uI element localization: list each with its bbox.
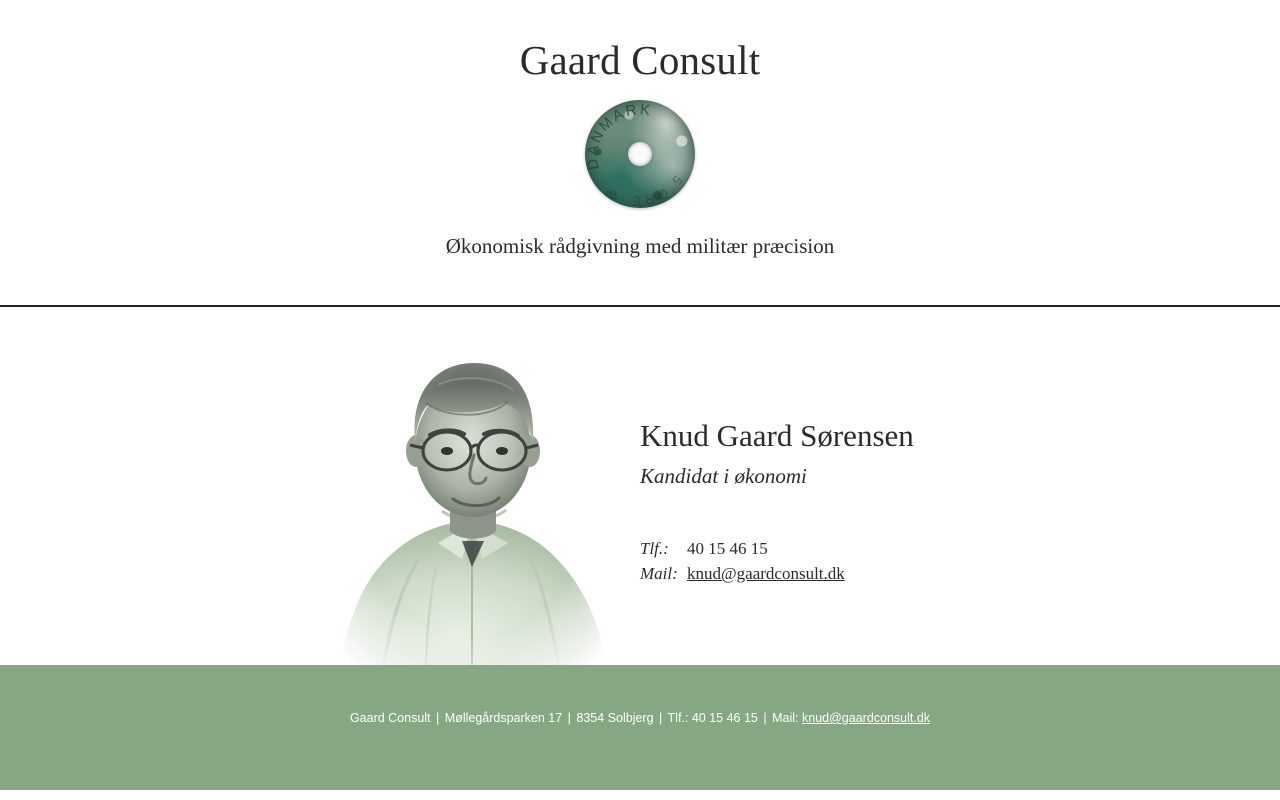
danish-coin-icon: DANMARK 5 ØRE	[585, 100, 695, 208]
footer-street: Møllegårdsparken 17	[445, 711, 562, 725]
page-root: Gaard Consult DANMARK 5 ØRE	[0, 0, 1280, 800]
footer-mail-label: Mail:	[772, 711, 798, 725]
footer-company: Gaard Consult	[350, 711, 431, 725]
person-name: Knud Gaard Sørensen	[640, 417, 1200, 455]
footer-mail-link[interactable]: knud@gaardconsult.dk	[802, 711, 930, 725]
footer-separator-2: |	[566, 711, 573, 725]
phone-label: Tlf.:	[640, 536, 687, 561]
footer-phone: Tlf.: 40 15 46 15	[668, 711, 758, 725]
phone-value: 40 15 46 15	[687, 536, 768, 561]
coin-inscription: DANMARK 5 ØRE	[585, 100, 695, 208]
footer-text: Gaard Consult | Møllegårdsparken 17 | 83…	[0, 710, 1280, 726]
footer-separator-3: |	[657, 711, 664, 725]
person-role: Kandidat i økonomi	[640, 463, 1200, 490]
footer-separator-1: |	[434, 711, 441, 725]
page-bottom-spacer	[0, 790, 1280, 800]
site-logo: DANMARK 5 ØRE	[585, 100, 695, 210]
portrait-photo	[322, 345, 622, 665]
site-tagline: Økonomisk rådgivning med militær præcisi…	[0, 232, 1280, 260]
contact-row-mail: Mail: knud@gaardconsult.dk	[640, 561, 1200, 586]
contact-row-phone: Tlf.: 40 15 46 15	[640, 536, 1200, 561]
contact-block: Tlf.: 40 15 46 15 Mail: knud@gaardconsul…	[640, 536, 1200, 586]
site-footer: Gaard Consult | Møllegårdsparken 17 | 83…	[0, 665, 1280, 790]
site-header: Gaard Consult DANMARK 5 ØRE	[0, 0, 1280, 307]
main-content: Knud Gaard Sørensen Kandidat i økonomi T…	[0, 307, 1280, 665]
svg-text:DANMARK: DANMARK	[585, 101, 653, 171]
footer-city: 8354 Solbjerg	[576, 711, 653, 725]
mail-link[interactable]: knud@gaardconsult.dk	[687, 564, 845, 583]
svg-text:5 ØRE: 5 ØRE	[629, 173, 686, 208]
mail-value-wrap: knud@gaardconsult.dk	[687, 561, 845, 586]
site-title: Gaard Consult	[0, 0, 1280, 84]
profile-details: Knud Gaard Sørensen Kandidat i økonomi T…	[640, 417, 1200, 586]
mail-label: Mail:	[640, 561, 687, 586]
footer-separator-4: |	[761, 711, 768, 725]
